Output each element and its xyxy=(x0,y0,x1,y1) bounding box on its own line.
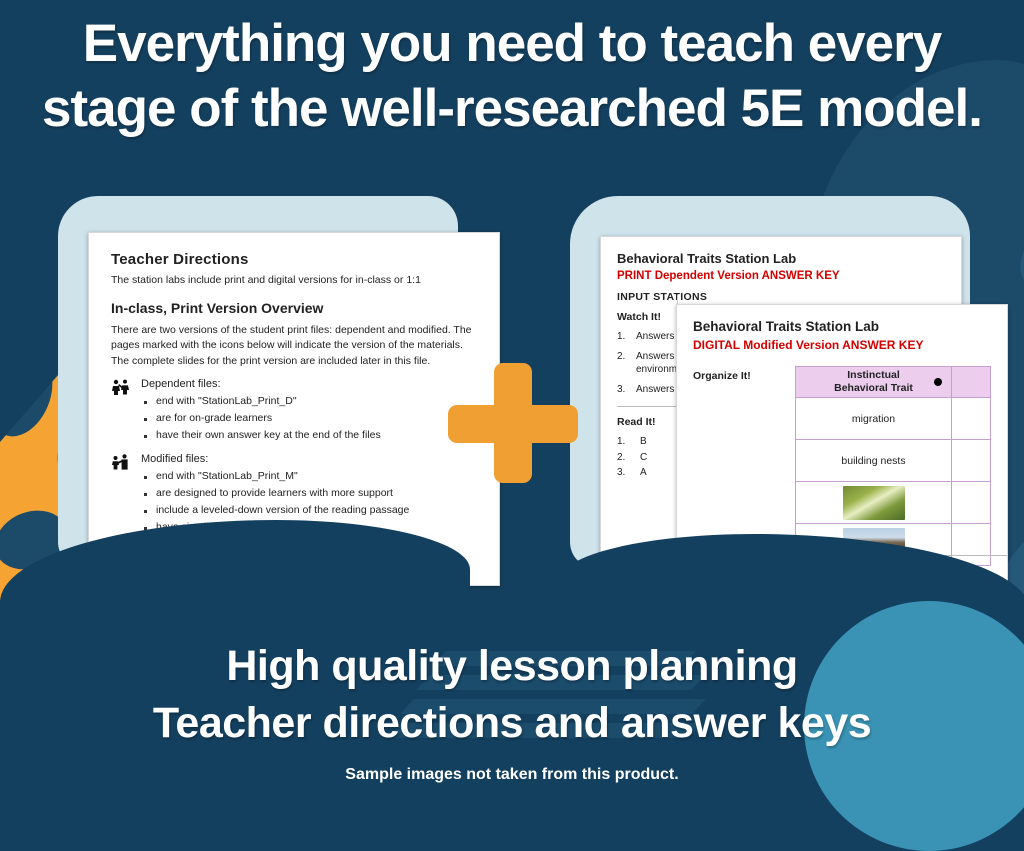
item-number: 1. xyxy=(617,435,629,449)
table-cell: building nests xyxy=(796,440,952,482)
item-answer: A xyxy=(636,466,647,480)
footer-headline: High quality lesson planning Teacher dir… xyxy=(0,638,1024,752)
list-item: are for on-grade learners xyxy=(141,410,381,427)
table-cell-empty xyxy=(952,398,991,440)
two-people-icon xyxy=(111,378,133,395)
list-item: are designed to provide learners with mo… xyxy=(141,485,420,502)
disclaimer-text: Sample images not taken from this produc… xyxy=(0,766,1024,784)
input-stations-heading: INPUT STATIONS xyxy=(617,291,945,303)
plus-icon xyxy=(448,363,578,483)
left-doc-title: Teacher Directions xyxy=(111,251,479,268)
item-number: 2. xyxy=(617,350,629,377)
left-doc-section-paragraph: There are two versions of the student pr… xyxy=(111,323,479,369)
item-number: 3. xyxy=(617,466,629,480)
item-number: 1. xyxy=(617,330,629,344)
table-header-cell-empty xyxy=(952,367,991,398)
dependent-files-bullets: end with "StationLab_Print_D" are for on… xyxy=(141,393,381,444)
headline-line-1: Everything you need to teach every xyxy=(0,12,1024,77)
list-item: end with "StationLab_Print_D" xyxy=(141,393,381,410)
dependent-files-label: Dependent files: xyxy=(141,378,381,390)
organize-it-label: Organize It! xyxy=(693,370,751,382)
right-front-title: Behavioral Traits Station Lab xyxy=(693,319,991,334)
footline-line-1: High quality lesson planning xyxy=(0,638,1024,695)
item-answer: B xyxy=(636,435,647,449)
item-number: 3. xyxy=(617,383,629,397)
person-and-helper-icon xyxy=(111,453,133,470)
table-cell-image xyxy=(796,482,952,524)
headline-line-2: stage of the well-researched 5E model. xyxy=(0,77,1024,142)
footline-line-2: Teacher directions and answer keys xyxy=(0,695,1024,752)
list-item: have their own answer key at the end of … xyxy=(141,427,381,444)
left-doc-section-heading: In-class, Print Version Overview xyxy=(111,300,479,316)
table-cell-empty xyxy=(952,482,991,524)
table-cell: migration xyxy=(796,398,952,440)
teardrop-decoration-1 xyxy=(0,344,64,445)
table-header-row: Instinctual Behavioral Trait xyxy=(796,367,991,398)
ellipse-decoration-1 xyxy=(1004,180,1024,307)
plus-vertical-bar xyxy=(494,363,532,483)
table-cell-empty xyxy=(952,440,991,482)
list-item: end with "StationLab_Print_M" xyxy=(141,468,420,485)
table-row: building nests xyxy=(796,440,991,482)
right-back-subtitle: PRINT Dependent Version ANSWER KEY xyxy=(617,270,945,282)
list-item: include a leveled-down version of the re… xyxy=(141,502,420,519)
right-back-title: Behavioral Traits Station Lab xyxy=(617,251,945,266)
table-row xyxy=(796,482,991,524)
right-front-subtitle: DIGITAL Modified Version ANSWER KEY xyxy=(693,338,991,352)
header-line-2: Behavioral Trait xyxy=(834,382,913,394)
item-number: 2. xyxy=(617,451,629,465)
item-answer: C xyxy=(636,451,647,465)
table-row: migration xyxy=(796,398,991,440)
modified-files-label: Modified files: xyxy=(141,453,420,465)
left-doc-intro: The station labs include print and digit… xyxy=(111,273,479,288)
dependent-files-group: Dependent files: end with "StationLab_Pr… xyxy=(111,378,479,444)
forest-animal-photo xyxy=(843,486,905,520)
headline: Everything you need to teach every stage… xyxy=(0,12,1024,141)
bullet-dot-icon xyxy=(934,378,942,386)
table-header-cell: Instinctual Behavioral Trait xyxy=(796,367,952,398)
header-line-1: Instinctual xyxy=(847,369,900,381)
